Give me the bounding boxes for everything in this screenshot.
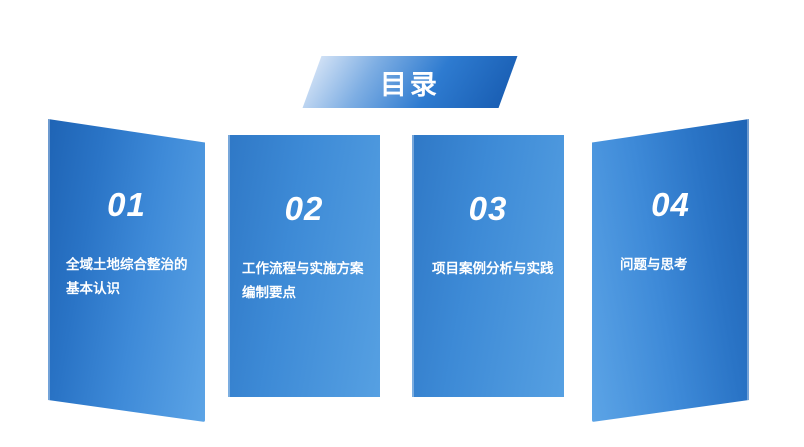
agenda-panel-4-label: 问题与思考 xyxy=(620,253,740,277)
agenda-panel-2[interactable]: 02 工作流程与实施方案编制要点 xyxy=(228,135,380,397)
agenda-panel-2-label: 工作流程与实施方案编制要点 xyxy=(242,257,372,304)
agenda-panel-1[interactable]: 01 全域土地综合整治的基本认识 xyxy=(48,108,205,422)
panel-edge-highlight xyxy=(747,108,749,422)
slide-canvas: 目录 01 全域土地综合整治的基本认识 02 工作流程与实施方案编制要点 03 … xyxy=(0,0,804,447)
panel-edge-highlight xyxy=(412,135,414,397)
panel-edge-highlight xyxy=(228,135,230,397)
agenda-panel-4[interactable]: 04 问题与思考 xyxy=(592,108,749,422)
panel-edge-highlight xyxy=(48,108,50,422)
agenda-panel-2-number: 02 xyxy=(228,190,380,228)
agenda-panel-3[interactable]: 03 项目案例分析与实践 xyxy=(412,135,564,397)
page-title: 目录 xyxy=(380,63,440,102)
title-banner: 目录 xyxy=(303,56,518,108)
agenda-panel-3-label: 项目案例分析与实践 xyxy=(432,257,560,281)
agenda-panel-1-label: 全域土地综合整治的基本认识 xyxy=(66,253,191,300)
agenda-panel-4-number: 04 xyxy=(592,186,749,224)
agenda-panel-1-number: 01 xyxy=(48,186,205,224)
agenda-panel-3-number: 03 xyxy=(412,190,564,228)
